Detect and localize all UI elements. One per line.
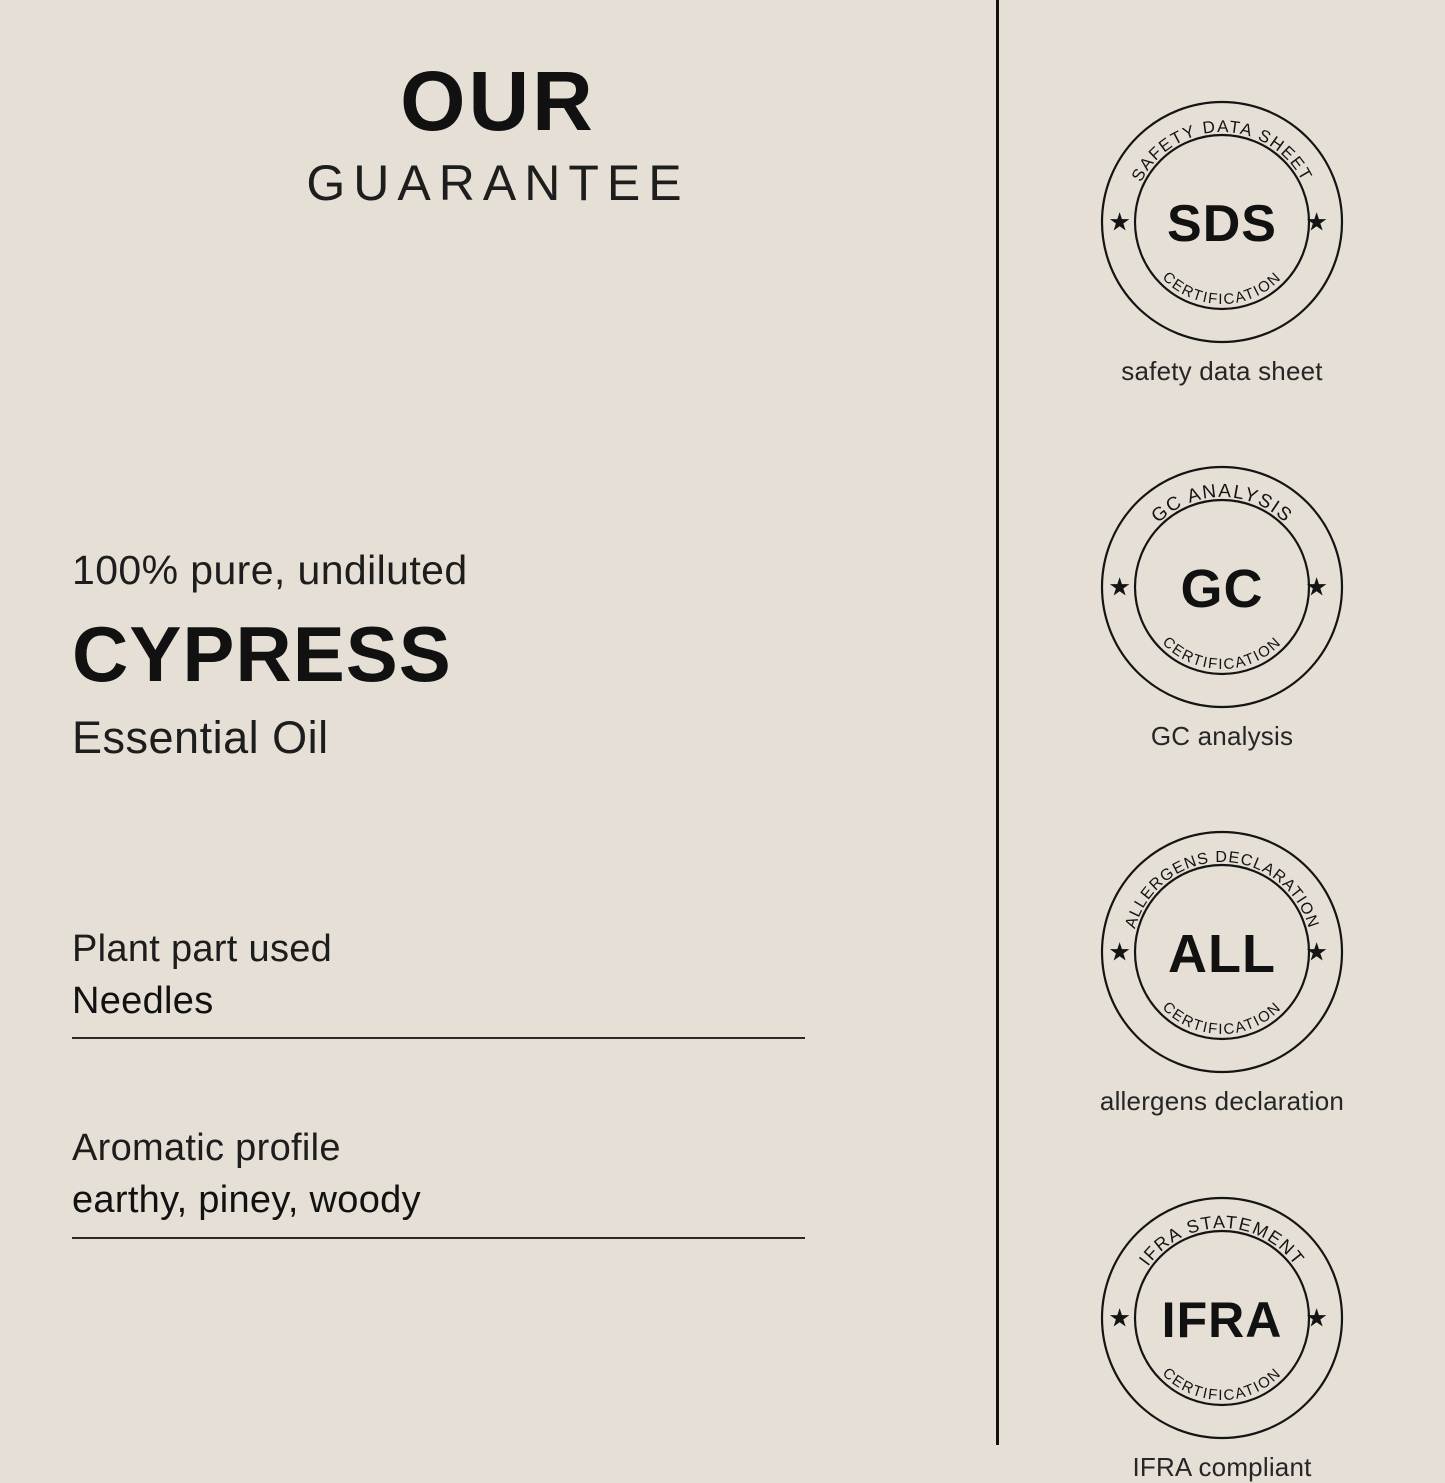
seal-badge-icon: GC ANALYSIS CERTIFICATION GC: [1100, 465, 1344, 709]
guarantee-panel: OUR GUARANTEE 100% pure, undiluted CYPRE…: [0, 0, 1445, 1445]
badge-caption: safety data sheet: [999, 356, 1445, 387]
product-identity: 100% pure, undiluted CYPRESS Essential O…: [72, 548, 872, 760]
svg-text:CERTIFICATION: CERTIFICATION: [1159, 1364, 1285, 1404]
seal-top-text: GC ANALYSIS: [1148, 481, 1297, 527]
seal-top-text: SAFETY DATA SHEET: [1128, 117, 1316, 185]
certification-badge-gc: GC ANALYSIS CERTIFICATION GC GC analysis: [999, 465, 1445, 752]
spec-list: Plant part used Needles Aromatic profile…: [72, 928, 805, 1239]
svg-text:CERTIFICATION: CERTIFICATION: [1159, 999, 1285, 1039]
star-icon: [1110, 577, 1129, 595]
badge-caption: GC analysis: [999, 721, 1445, 752]
spec-value: Needles: [72, 980, 805, 1024]
seal-abbreviation: SDS: [1167, 195, 1277, 253]
svg-text:CERTIFICATION: CERTIFICATION: [1159, 268, 1285, 308]
star-icon: [1110, 942, 1129, 960]
svg-text:GC ANALYSIS: GC ANALYSIS: [1148, 481, 1297, 527]
badge-caption: allergens declaration: [999, 1086, 1445, 1117]
seal-bottom-text: CERTIFICATION: [1159, 1364, 1285, 1404]
svg-text:SAFETY DATA SHEET: SAFETY DATA SHEET: [1128, 117, 1316, 185]
right-certification-panel: SAFETY DATA SHEET CERTIFICATION SDS safe…: [999, 0, 1445, 1445]
certification-badge-ifra: IFRA STATEMENT CERTIFICATION IFRA IFRA c…: [999, 1196, 1445, 1483]
spec-label: Aromatic profile: [72, 1127, 805, 1171]
spec-label: Plant part used: [72, 928, 805, 972]
certification-badge-sds: SAFETY DATA SHEET CERTIFICATION SDS safe…: [999, 100, 1445, 387]
seal-bottom-text: CERTIFICATION: [1159, 268, 1285, 308]
product-purity-claim: 100% pure, undiluted: [72, 548, 872, 593]
spec-row-aromatic-profile: Aromatic profile earthy, piney, woody: [72, 1127, 805, 1238]
seal-badge-icon: SAFETY DATA SHEET CERTIFICATION SDS: [1100, 100, 1344, 344]
spec-divider: [72, 1037, 805, 1039]
spec-row-plant-part: Plant part used Needles: [72, 928, 805, 1039]
seal-bottom-text: CERTIFICATION: [1159, 634, 1285, 674]
svg-text:CERTIFICATION: CERTIFICATION: [1159, 634, 1285, 674]
spec-divider: [72, 1237, 805, 1239]
svg-text:ALLERGENS DECLARATION: ALLERGENS DECLARATION: [1122, 849, 1321, 931]
certification-badge-all: ALLERGENS DECLARATION CERTIFICATION ALL …: [999, 830, 1445, 1117]
seal-abbreviation: GC: [1181, 559, 1264, 619]
seal-abbreviation: IFRA: [1162, 1292, 1283, 1348]
left-content-panel: OUR GUARANTEE 100% pure, undiluted CYPRE…: [0, 0, 996, 1445]
spec-value: earthy, piney, woody: [72, 1179, 805, 1223]
page-title-line2: GUARANTEE: [0, 158, 996, 208]
star-icon: [1110, 1308, 1129, 1326]
star-icon: [1110, 212, 1129, 230]
certification-badge-list: SAFETY DATA SHEET CERTIFICATION SDS safe…: [999, 100, 1445, 1483]
badge-caption: IFRA compliant: [999, 1452, 1445, 1483]
product-type: Essential Oil: [72, 715, 872, 760]
seal-bottom-text: CERTIFICATION: [1159, 999, 1285, 1039]
seal-top-text: ALLERGENS DECLARATION: [1122, 849, 1321, 931]
svg-text:IFRA STATEMENT: IFRA STATEMENT: [1135, 1211, 1309, 1268]
seal-top-text: IFRA STATEMENT: [1135, 1211, 1309, 1268]
seal-abbreviation: ALL: [1168, 924, 1276, 984]
page-title: OUR GUARANTEE: [0, 62, 996, 208]
page-title-line1: OUR: [0, 62, 996, 142]
seal-badge-icon: ALLERGENS DECLARATION CERTIFICATION ALL: [1100, 830, 1344, 1074]
product-name: CYPRESS: [72, 615, 872, 693]
seal-badge-icon: IFRA STATEMENT CERTIFICATION IFRA: [1100, 1196, 1344, 1440]
